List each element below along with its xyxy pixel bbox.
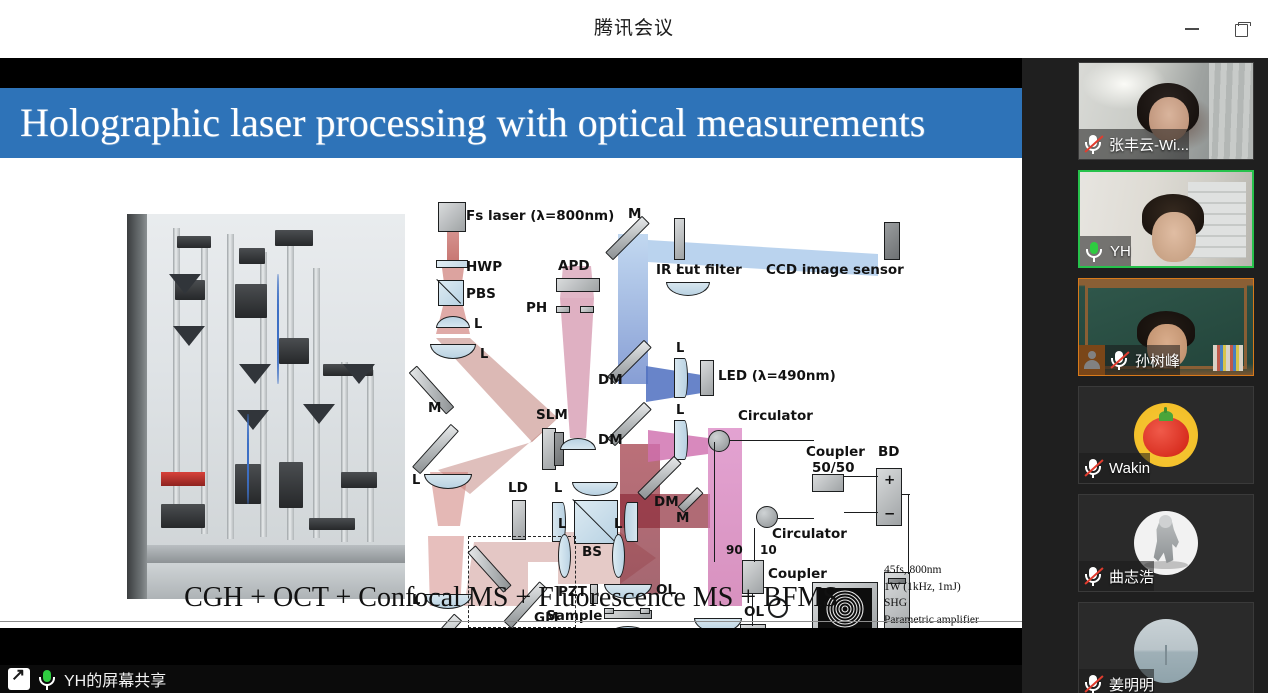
lens-element (604, 626, 652, 628)
participant-footer: 姜明明 (1079, 669, 1154, 693)
participant-name: 张丰云-Wi... (1109, 134, 1189, 155)
diagram-label-lens: L (676, 264, 684, 277)
diagram-label-mirror: M (628, 208, 641, 222)
led-element (700, 360, 714, 396)
diagram-label-circulator: Circulator (738, 410, 813, 424)
diagram-label-tap-90: 90 (726, 544, 743, 556)
rail-scrollbar[interactable] (1263, 58, 1266, 693)
presentation-slide: Holographic laser processing with optica… (0, 88, 1022, 628)
photo-post (227, 234, 234, 539)
diagram-label-bd-positive: + (884, 474, 895, 488)
diagram-label-lens: L (676, 342, 684, 355)
diagram-label-ir-cut-filter: IR cut filter (656, 264, 742, 278)
diagram-label-hwp: HWP (466, 261, 502, 275)
optical-setup-photo (127, 214, 405, 599)
lens-element (612, 534, 625, 578)
photo-component (161, 504, 205, 528)
diagram-label-ld: LD (508, 482, 528, 496)
diagram-label-tap-10: 10 (760, 544, 777, 556)
photo-component (279, 462, 303, 508)
screen-share-status-bar[interactable]: YH的屏幕共享 (0, 665, 1022, 693)
fiber-link (754, 528, 755, 562)
photo-post (313, 268, 320, 538)
participant-name: Wakin (1109, 460, 1150, 477)
diagram-label-lens: L (412, 474, 420, 487)
participant-name: YH (1110, 243, 1131, 260)
lens-element (624, 502, 638, 542)
window-title: 腾讯会议 (0, 0, 1268, 58)
sls-source-element (740, 624, 766, 628)
fiber-link (778, 518, 814, 519)
participant-footer: YH (1080, 236, 1131, 266)
slide-divider (0, 621, 1022, 622)
window-controls (1180, 10, 1254, 48)
screen-share-label: YH的屏幕共享 (64, 667, 166, 691)
photo-component (341, 472, 377, 488)
fs-laser-head-element (438, 202, 466, 232)
diagram-label-dm: DM (654, 496, 679, 510)
ccd-sensor-element (884, 222, 900, 260)
laser-spec-notes: 45fs, 800nm 1W (1kHz, 1mJ) SHG Parametri… (884, 562, 1022, 628)
diagram-label-ccd-image-sensor: CCD image sensor (766, 264, 904, 278)
fiber-link (714, 442, 715, 562)
minimize-button[interactable] (1180, 17, 1204, 41)
participant-rail[interactable]: 张丰云-Wi... YH (1022, 58, 1268, 693)
diagram-label-fs-laser: Fs laser (λ=800nm) (466, 210, 614, 224)
participant-tile[interactable]: 姜明明 (1078, 602, 1254, 693)
circulator-element (756, 506, 778, 528)
photo-cable (247, 414, 249, 504)
mic-off-icon[interactable] (1081, 132, 1105, 156)
photo-post (341, 362, 348, 542)
photo-component (239, 248, 265, 264)
window-titlebar: 腾讯会议 (0, 0, 1268, 58)
note-line: 1W (1kHz, 1mJ) (884, 579, 1022, 596)
mic-off-icon[interactable] (1107, 348, 1131, 372)
diagram-label-bd-negative: − (884, 508, 895, 522)
mic-on-icon[interactable] (1082, 239, 1106, 263)
diagram-label-ph: PH (526, 302, 547, 316)
note-line: 45fs, 800nm (884, 562, 1022, 579)
optical-system-diagram: Fs laser (λ=800nm) HWP PBS L L M L L M S… (408, 206, 1008, 606)
photo-component (275, 230, 313, 246)
lens-element (674, 420, 688, 460)
photo-component (177, 236, 211, 248)
photo-component (279, 338, 309, 364)
photo-component (309, 518, 355, 530)
circulator-element (708, 430, 730, 452)
signal-cable (902, 494, 910, 495)
diagram-label-apd: APD (558, 260, 590, 274)
slide-title: Holographic laser processing with optica… (20, 88, 1010, 158)
participant-footer: 孙树峰 (1079, 345, 1180, 375)
slide-caption-text: CGH + OCT + Confocal MS + Fluorescence M… (184, 582, 838, 613)
fiber-link (844, 512, 878, 513)
participant-name: 孙树峰 (1135, 350, 1180, 371)
diagram-label-bs: BS (582, 546, 602, 560)
photo-mirror-mount (173, 326, 205, 346)
photo-mirror-mount (303, 404, 335, 424)
pbs-element (438, 280, 464, 306)
photo-mirror-mount (343, 364, 375, 384)
optical-table-top (147, 545, 405, 563)
participant-tile[interactable]: 曲志浩 (1078, 494, 1254, 592)
diagram-label-lens: L (676, 404, 684, 417)
photo-red-component (161, 472, 205, 486)
mic-off-icon[interactable] (1081, 672, 1105, 693)
screen-share-icon[interactable] (8, 668, 30, 690)
mic-off-icon[interactable] (1081, 564, 1105, 588)
diagram-label-dm: DM (598, 434, 623, 448)
diagram-label-led: LED (λ=490nm) (718, 370, 836, 384)
participant-footer: 张丰云-Wi... (1079, 129, 1189, 159)
participant-name: 曲志浩 (1109, 566, 1154, 587)
diagram-label-dm: DM (598, 374, 623, 388)
diagram-label-mirror: M (676, 512, 689, 526)
note-line: SHG (884, 595, 1022, 612)
maximize-icon (1235, 22, 1249, 36)
participant-tile[interactable]: Wakin (1078, 386, 1254, 484)
slide-caption: CGH + OCT + Confocal MS + Fluorescence M… (0, 576, 1022, 620)
diagram-label-coupler-ratio: 50/50 (812, 462, 855, 476)
participant-tile[interactable]: 张丰云-Wi... (1078, 62, 1254, 160)
participant-footer: Wakin (1079, 453, 1150, 483)
diagram-label-circulator: Circulator (772, 528, 847, 542)
note-line: Parametric amplifier (884, 612, 1022, 628)
fiber-link (730, 440, 814, 441)
mic-on-icon[interactable] (38, 668, 56, 690)
diagram-label-pbs: PBS (466, 288, 496, 302)
diagram-label-bd: BD (878, 446, 900, 460)
pinhole-element (556, 306, 570, 313)
diagram-label-lens: L (558, 518, 566, 531)
mic-off-icon[interactable] (1081, 456, 1105, 480)
diagram-label-lens: L (554, 482, 562, 495)
participant-tile-active-speaker[interactable]: YH (1078, 170, 1254, 268)
minimize-icon (1185, 28, 1199, 30)
lens-element (558, 534, 571, 578)
photo-post (367, 370, 374, 542)
participant-name: 姜明明 (1109, 674, 1154, 693)
diagram-label-lens: L (474, 318, 482, 331)
pinhole-element (580, 306, 594, 313)
hwp-element (436, 260, 468, 268)
photo-frame-edge (127, 214, 147, 599)
diagram-label-mirror: M (428, 402, 441, 416)
diagram-label-coupler: Coupler (806, 446, 865, 460)
apd-element (556, 278, 600, 292)
photo-cable (277, 274, 279, 384)
meeting-window: 腾讯会议 Holographic laser processing with o… (0, 0, 1268, 693)
diagram-label-slm: SLM (536, 409, 568, 423)
participant-footer: 曲志浩 (1079, 561, 1154, 591)
lens-element (674, 358, 688, 398)
participant-tile-host[interactable]: 孙树峰 (1078, 278, 1254, 376)
ld-element (512, 500, 526, 540)
beam-splitter-element (574, 500, 618, 544)
photo-component (235, 284, 267, 318)
maximize-button[interactable] (1230, 17, 1254, 41)
fiber-link (844, 476, 878, 477)
shared-screen-viewport[interactable]: Holographic laser processing with optica… (0, 58, 1022, 665)
coupler-5050-element (812, 474, 844, 492)
diagram-label-lens: L (614, 518, 622, 531)
photo-mirror-mount (239, 364, 271, 384)
ir-cut-filter-element (674, 218, 685, 260)
diagram-label-lens: L (480, 348, 488, 361)
photo-mirror-mount (169, 274, 201, 294)
photo-mirror-mount (237, 410, 269, 430)
